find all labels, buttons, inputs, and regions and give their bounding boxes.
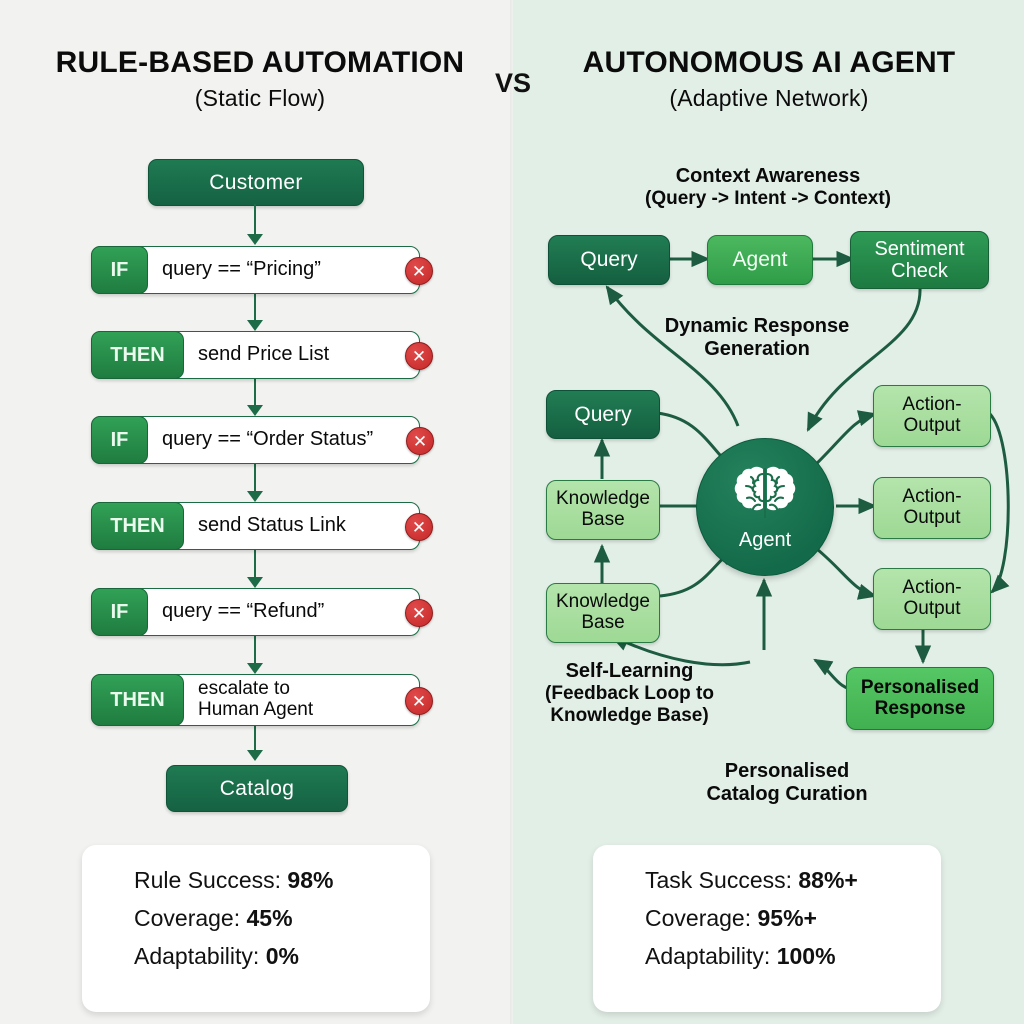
flow-node-catalog-label: Catalog: [220, 777, 294, 801]
stat-value: 45%: [247, 905, 293, 931]
stat-label: Coverage:: [645, 905, 758, 931]
annotation-dynamic-response-heading: Dynamic Response: [622, 315, 892, 338]
connector-1-arrow: [247, 234, 263, 245]
rule-row[interactable]: THEN send Status Link ✕: [91, 502, 420, 550]
stat-label: Coverage:: [134, 905, 247, 931]
annotation-context-awareness-heading: Context Awareness: [598, 165, 938, 188]
rule-text: escalate to Human Agent: [184, 679, 419, 720]
annotation-self-learning-detail-line2: Knowledge Base): [522, 705, 737, 727]
stat-label: Adaptability:: [134, 943, 266, 969]
rule-text: query == “Order Status”: [148, 429, 419, 451]
node-sentiment-check-line2: Check: [874, 260, 964, 282]
node-agent-center-label: Agent: [697, 529, 833, 552]
error-x-icon[interactable]: ✕: [405, 257, 433, 285]
error-x-icon[interactable]: ✕: [405, 687, 433, 715]
node-action-output-1-line1: Action-: [902, 395, 961, 416]
node-personalised-response-line2: Response: [861, 699, 979, 720]
stat-value: 88%+: [798, 867, 857, 893]
flow-node-customer[interactable]: Customer: [148, 159, 364, 206]
annotation-self-learning: Self-Learning (Feedback Loop to Knowledg…: [522, 660, 737, 727]
node-action-output-2-line1: Action-: [902, 487, 961, 508]
rule-tag: THEN: [91, 502, 184, 550]
rule-row[interactable]: THEN send Price List ✕: [91, 331, 420, 379]
rule-row[interactable]: IF query == “Order Status” ✕: [91, 416, 420, 464]
rule-row[interactable]: IF query == “Refund” ✕: [91, 588, 420, 636]
annotation-personalised-catalog-heading: Personalised: [652, 760, 922, 783]
flow-node-catalog[interactable]: Catalog: [166, 765, 348, 812]
connector-4-arrow: [247, 491, 263, 502]
stat-value: 95%+: [758, 905, 817, 931]
node-knowledge-base-2-line2: Base: [556, 613, 650, 634]
node-personalised-response-line1: Personalised: [861, 678, 979, 699]
rule-tag: IF: [91, 416, 148, 464]
connector-3-arrow: [247, 405, 263, 416]
error-x-icon[interactable]: ✕: [405, 513, 433, 541]
stat-line: Adaptability: 0%: [82, 937, 430, 975]
node-knowledge-base-2[interactable]: Knowledge Base: [546, 583, 660, 643]
stat-line: Task Success: 88%+: [593, 861, 941, 899]
connector-7-arrow: [247, 750, 263, 761]
connector-1: [254, 204, 256, 236]
right-stats-card: Task Success: 88%+ Coverage: 95%+ Adapta…: [593, 845, 941, 1012]
annotation-self-learning-detail-line1: (Feedback Loop to: [522, 683, 737, 705]
rule-tag: IF: [91, 588, 148, 636]
stat-label: Rule Success:: [134, 867, 287, 893]
annotation-context-awareness-detail: (Query -> Intent -> Context): [598, 188, 938, 210]
stat-value: 98%: [287, 867, 333, 893]
connector-5-arrow: [247, 577, 263, 588]
diagram-canvas: RULE-BASED AUTOMATION (Static Flow) VS A…: [0, 0, 1024, 1024]
rule-text-line1: escalate to: [198, 679, 393, 700]
stat-label: Adaptability:: [645, 943, 777, 969]
node-agent-top[interactable]: Agent: [707, 235, 813, 285]
annotation-personalised-catalog-curation: Personalised Catalog Curation: [652, 760, 922, 806]
stat-line: Rule Success: 98%: [82, 861, 430, 899]
error-x-icon[interactable]: ✕: [406, 427, 434, 455]
stat-value: 100%: [777, 943, 836, 969]
node-action-output-3-line2: Output: [902, 599, 961, 620]
node-agent-top-label: Agent: [733, 248, 788, 271]
annotation-self-learning-heading: Self-Learning: [522, 660, 737, 683]
connector-2-arrow: [247, 320, 263, 331]
node-query-top[interactable]: Query: [548, 235, 670, 285]
node-query-mid-label: Query: [574, 403, 631, 426]
annotation-dynamic-response-detail: Generation: [622, 338, 892, 361]
rule-text: query == “Pricing”: [148, 259, 419, 281]
rule-tag: IF: [91, 246, 148, 294]
brain-icon: [733, 465, 797, 526]
node-agent-center[interactable]: Agent: [696, 438, 834, 576]
stat-line: Coverage: 45%: [82, 899, 430, 937]
annotation-personalised-catalog-detail: Catalog Curation: [652, 783, 922, 806]
node-personalised-response[interactable]: Personalised Response: [846, 667, 994, 730]
node-action-output-2[interactable]: Action- Output: [873, 477, 991, 539]
connector-6-arrow: [247, 663, 263, 674]
rule-row[interactable]: THEN escalate to Human Agent ✕: [91, 674, 420, 726]
stat-value: 0%: [266, 943, 299, 969]
node-sentiment-check-line1: Sentiment: [874, 238, 964, 260]
node-query-top-label: Query: [580, 248, 637, 271]
node-query-mid[interactable]: Query: [546, 390, 660, 439]
node-action-output-3-line1: Action-: [902, 578, 961, 599]
node-sentiment-check[interactable]: Sentiment Check: [850, 231, 989, 289]
node-action-output-2-line2: Output: [902, 508, 961, 529]
rule-text: send Status Link: [184, 515, 419, 537]
rule-text: send Price List: [184, 344, 419, 366]
rule-tag: THEN: [91, 331, 184, 379]
annotation-dynamic-response: Dynamic Response Generation: [622, 315, 892, 361]
error-x-icon[interactable]: ✕: [405, 599, 433, 627]
node-knowledge-base-2-line1: Knowledge: [556, 592, 650, 613]
rule-text-line2: Human Agent: [198, 700, 393, 721]
flow-node-customer-label: Customer: [209, 171, 302, 195]
rule-tag: THEN: [91, 674, 184, 726]
error-x-icon[interactable]: ✕: [405, 342, 433, 370]
rule-row[interactable]: IF query == “Pricing” ✕: [91, 246, 420, 294]
node-action-output-3[interactable]: Action- Output: [873, 568, 991, 630]
node-knowledge-base-1-line1: Knowledge: [556, 489, 650, 510]
stat-label: Task Success:: [645, 867, 798, 893]
left-stats-card: Rule Success: 98% Coverage: 45% Adaptabi…: [82, 845, 430, 1012]
stat-line: Coverage: 95%+: [593, 899, 941, 937]
node-knowledge-base-1[interactable]: Knowledge Base: [546, 480, 660, 540]
node-action-output-1-line2: Output: [902, 416, 961, 437]
node-action-output-1[interactable]: Action- Output: [873, 385, 991, 447]
rule-text: query == “Refund”: [148, 601, 419, 623]
annotation-context-awareness: Context Awareness (Query -> Intent -> Co…: [598, 165, 938, 210]
node-knowledge-base-1-line2: Base: [556, 510, 650, 531]
stat-line: Adaptability: 100%: [593, 937, 941, 975]
